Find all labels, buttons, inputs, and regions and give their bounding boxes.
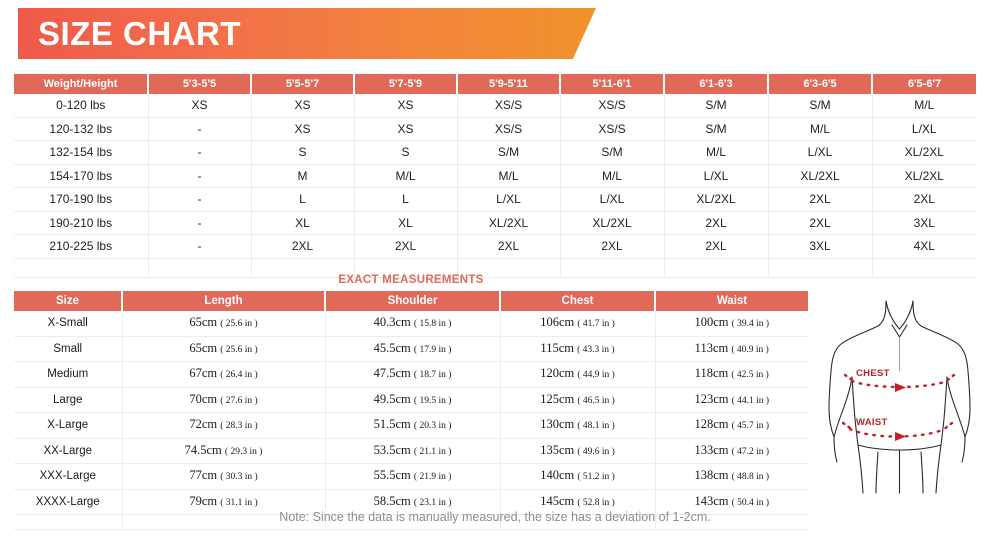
shoulder-cm: 55.5cm [374, 468, 411, 482]
table-row: 154-170 lbs - M M/L M/L M/L L/XL XL/2XL … [14, 164, 976, 188]
size-cell: S/M [664, 94, 768, 117]
column-header: 5'3-5'5 [148, 74, 251, 94]
chest-cell: 135cm ( 49.6 in ) [500, 438, 655, 464]
chest-in: ( 49.6 in ) [577, 447, 614, 457]
column-header: 5'7-5'9 [354, 74, 457, 94]
size-cell: S/M [664, 117, 768, 141]
waist-cm: 128cm [694, 417, 728, 431]
waist-label: WAIST [856, 417, 888, 428]
size-cell: S/M [457, 141, 560, 165]
table-row: Medium 67cm ( 26.4 in ) 47.5cm ( 18.7 in… [14, 362, 808, 388]
size-cell: L/XL [560, 188, 664, 212]
size-name-cell: X-Large [14, 413, 122, 439]
column-header: Chest [500, 291, 655, 311]
shoulder-cm: 51.5cm [374, 417, 411, 431]
chest-cell: 120cm ( 44.9 in ) [500, 362, 655, 388]
size-cell: M/L [354, 164, 457, 188]
chest-cell: 115cm ( 43.3 in ) [500, 336, 655, 362]
length-cell: 65cm ( 25.6 in ) [122, 311, 325, 336]
chest-cell: 140cm ( 51.2 in ) [500, 464, 655, 490]
length-cm: 70cm [189, 392, 217, 406]
size-cell: S [251, 141, 354, 165]
size-cell: - [148, 141, 251, 165]
waist-in: ( 40.9 in ) [731, 345, 768, 355]
size-cell: XL/2XL [872, 164, 976, 188]
length-in: ( 25.6 in ) [220, 345, 257, 355]
size-cell: XS [251, 117, 354, 141]
shoulder-in: ( 18.7 in ) [414, 370, 451, 380]
size-cell: XS/S [560, 117, 664, 141]
waist-in: ( 45.7 in ) [732, 421, 769, 431]
length-in: ( 29.3 in ) [225, 447, 262, 457]
size-cell: XS/S [560, 94, 664, 117]
row-label-cell: 170-190 lbs [14, 188, 148, 212]
size-cell: XS/S [457, 117, 560, 141]
chest-cm: 115cm [540, 341, 574, 355]
length-cm: 67cm [189, 366, 217, 380]
length-cell: 72cm ( 28.3 in ) [122, 413, 325, 439]
chest-cm: 135cm [540, 443, 574, 457]
row-label-cell: 154-170 lbs [14, 164, 148, 188]
waist-in: ( 42.5 in ) [731, 370, 768, 380]
table-header-row: Size Length Shoulder Chest Waist [14, 291, 808, 311]
size-name-cell: Large [14, 387, 122, 413]
shoulder-in: ( 15.8 in ) [414, 319, 451, 329]
size-cell: - [148, 235, 251, 259]
size-cell: M/L [768, 117, 872, 141]
chest-in: ( 51.2 in ) [577, 472, 614, 482]
chest-in: ( 48.1 in ) [577, 421, 614, 431]
size-by-weight-height-table: Weight/Height 5'3-5'5 5'5-5'7 5'7-5'9 5'… [14, 74, 976, 278]
size-cell: L/XL [664, 164, 768, 188]
column-header: 6'5-6'7 [872, 74, 976, 94]
waist-cell: 128cm ( 45.7 in ) [655, 413, 808, 439]
chest-in: ( 41.7 in ) [577, 319, 614, 329]
length-in: ( 30.3 in ) [220, 472, 257, 482]
size-cell: XL/2XL [457, 211, 560, 235]
shoulder-cell: 40.3cm ( 15.8 in ) [325, 311, 500, 336]
shoulder-in: ( 20.3 in ) [414, 421, 451, 431]
size-cell: M/L [457, 164, 560, 188]
size-cell: XL/2XL [664, 188, 768, 212]
chest-cell: 125cm ( 46.5 in ) [500, 387, 655, 413]
waist-in: ( 47.2 in ) [732, 447, 769, 457]
shoulder-cell: 45.5cm ( 17.9 in ) [325, 336, 500, 362]
table-row: X-Small 65cm ( 25.6 in ) 40.3cm ( 15.8 i… [14, 311, 808, 336]
size-cell: XL/2XL [560, 211, 664, 235]
chest-cm: 145cm [540, 494, 574, 508]
shoulder-in: ( 17.9 in ) [414, 345, 451, 355]
waist-cell: 133cm ( 47.2 in ) [655, 438, 808, 464]
size-cell: M [251, 164, 354, 188]
table-row: 0-120 lbs XS XS XS XS/S XS/S S/M S/M M/L [14, 94, 976, 117]
size-cell: L [251, 188, 354, 212]
length-cell: 74.5cm ( 29.3 in ) [122, 438, 325, 464]
length-in: ( 27.6 in ) [220, 396, 257, 406]
table-row: 190-210 lbs - XL XL XL/2XL XL/2XL 2XL 2X… [14, 211, 976, 235]
length-cm: 65cm [189, 315, 217, 329]
column-header: 6'1-6'3 [664, 74, 768, 94]
chest-cm: 125cm [540, 392, 574, 406]
size-cell: XL [251, 211, 354, 235]
shoulder-cm: 47.5cm [374, 366, 411, 380]
size-cell: M/L [872, 94, 976, 117]
body-measurement-diagram: CHEST WAIST [812, 297, 988, 502]
waist-cm: 123cm [694, 392, 728, 406]
size-cell: L/XL [872, 117, 976, 141]
shoulder-cell: 55.5cm ( 21.9 in ) [325, 464, 500, 490]
shoulder-cm: 53.5cm [374, 443, 411, 457]
shoulder-cell: 51.5cm ( 20.3 in ) [325, 413, 500, 439]
waist-in: ( 50.4 in ) [732, 498, 769, 508]
size-cell: L/XL [457, 188, 560, 212]
waist-cm: 113cm [695, 341, 729, 355]
size-cell: 2XL [768, 188, 872, 212]
size-cell: - [148, 117, 251, 141]
waist-cell: 118cm ( 42.5 in ) [655, 362, 808, 388]
table-row: 170-190 lbs - L L L/XL L/XL XL/2XL 2XL 2… [14, 188, 976, 212]
column-header: 5'11-6'1 [560, 74, 664, 94]
waist-cell: 138cm ( 48.8 in ) [655, 464, 808, 490]
chest-in: ( 43.3 in ) [577, 345, 614, 355]
column-header: Shoulder [325, 291, 500, 311]
table-row: 132-154 lbs - S S S/M S/M M/L L/XL XL/2X… [14, 141, 976, 165]
shoulder-in: ( 21.9 in ) [414, 472, 451, 482]
chest-in: ( 44.9 in ) [577, 370, 614, 380]
row-label-cell: 190-210 lbs [14, 211, 148, 235]
chest-in: ( 52.8 in ) [577, 498, 614, 508]
size-cell: XS [354, 94, 457, 117]
exact-measurements-title: EXACT MEASUREMENTS [14, 274, 808, 286]
size-cell: XS [354, 117, 457, 141]
size-cell: 2XL [872, 188, 976, 212]
waist-cm: 143cm [694, 494, 728, 508]
size-cell: XL [354, 211, 457, 235]
size-cell: - [148, 211, 251, 235]
column-header: Waist [655, 291, 808, 311]
chest-label: CHEST [856, 368, 890, 379]
size-cell: S/M [768, 94, 872, 117]
size-cell: - [148, 164, 251, 188]
length-cm: 74.5cm [185, 443, 222, 457]
size-cell: S [354, 141, 457, 165]
chest-cell: 106cm ( 41.7 in ) [500, 311, 655, 336]
length-cell: 70cm ( 27.6 in ) [122, 387, 325, 413]
table-row: Small 65cm ( 25.6 in ) 45.5cm ( 17.9 in … [14, 336, 808, 362]
chest-cm: 140cm [540, 468, 574, 482]
waist-in: ( 48.8 in ) [732, 472, 769, 482]
length-cm: 72cm [189, 417, 217, 431]
size-cell: 2XL [354, 235, 457, 259]
length-in: ( 28.3 in ) [220, 421, 257, 431]
size-cell: S/M [560, 141, 664, 165]
table-row: Large 70cm ( 27.6 in ) 49.5cm ( 19.5 in … [14, 387, 808, 413]
column-header: Size [14, 291, 122, 311]
size-cell: 2XL [768, 211, 872, 235]
shoulder-in: ( 23.1 in ) [414, 498, 451, 508]
size-name-cell: Medium [14, 362, 122, 388]
size-cell: 3XL [872, 211, 976, 235]
size-cell: L/XL [768, 141, 872, 165]
size-cell: 2XL [664, 235, 768, 259]
column-header: 5'5-5'7 [251, 74, 354, 94]
column-header: Length [122, 291, 325, 311]
length-cm: 79cm [189, 494, 217, 508]
column-header: 5'9-5'11 [457, 74, 560, 94]
waist-cm: 138cm [694, 468, 728, 482]
size-cell: M/L [664, 141, 768, 165]
waist-cm: 118cm [695, 366, 729, 380]
size-cell: 2XL [664, 211, 768, 235]
size-name-cell: Small [14, 336, 122, 362]
chest-cm: 120cm [540, 366, 574, 380]
size-cell: 2XL [457, 235, 560, 259]
waist-in: ( 39.4 in ) [732, 319, 769, 329]
size-cell: M/L [560, 164, 664, 188]
shoulder-cm: 45.5cm [374, 341, 411, 355]
length-cell: 65cm ( 25.6 in ) [122, 336, 325, 362]
shoulder-cm: 49.5cm [374, 392, 411, 406]
measurement-note: Note: Since the data is manually measure… [0, 510, 990, 524]
column-header: 6'3-6'5 [768, 74, 872, 94]
length-in: ( 25.6 in ) [220, 319, 257, 329]
waist-in: ( 44.1 in ) [732, 396, 769, 406]
size-name-cell: XX-Large [14, 438, 122, 464]
length-cell: 67cm ( 26.4 in ) [122, 362, 325, 388]
size-cell: XL/2XL [872, 141, 976, 165]
waist-cm: 100cm [694, 315, 728, 329]
waist-cell: 123cm ( 44.1 in ) [655, 387, 808, 413]
row-label-cell: 0-120 lbs [14, 94, 148, 117]
page-title: SIZE CHART [38, 15, 241, 53]
shoulder-cell: 53.5cm ( 21.1 in ) [325, 438, 500, 464]
row-label-cell: 120-132 lbs [14, 117, 148, 141]
size-cell: XL/2XL [768, 164, 872, 188]
size-cell: - [148, 188, 251, 212]
chest-cm: 106cm [540, 315, 574, 329]
length-cm: 77cm [189, 468, 217, 482]
chest-cell: 130cm ( 48.1 in ) [500, 413, 655, 439]
waist-cell: 113cm ( 40.9 in ) [655, 336, 808, 362]
chest-in: ( 46.5 in ) [577, 396, 614, 406]
table-header-row: Weight/Height 5'3-5'5 5'5-5'7 5'7-5'9 5'… [14, 74, 976, 94]
length-in: ( 31.1 in ) [220, 498, 257, 508]
size-cell: 2XL [560, 235, 664, 259]
table-row: XX-Large 74.5cm ( 29.3 in ) 53.5cm ( 21.… [14, 438, 808, 464]
spacer-cell [872, 258, 976, 277]
size-cell: XS/S [457, 94, 560, 117]
table-row: XXX-Large 77cm ( 30.3 in ) 55.5cm ( 21.9… [14, 464, 808, 490]
size-name-cell: XXX-Large [14, 464, 122, 490]
size-chart-banner: SIZE CHART [18, 8, 596, 59]
size-cell: 3XL [768, 235, 872, 259]
table-row: 120-132 lbs - XS XS XS/S XS/S S/M M/L L/… [14, 117, 976, 141]
size-cell: XS [148, 94, 251, 117]
chest-cm: 130cm [540, 417, 574, 431]
table-row: 210-225 lbs - 2XL 2XL 2XL 2XL 2XL 3XL 4X… [14, 235, 976, 259]
shoulder-cm: 40.3cm [374, 315, 411, 329]
shoulder-cell: 49.5cm ( 19.5 in ) [325, 387, 500, 413]
length-cell: 77cm ( 30.3 in ) [122, 464, 325, 490]
size-cell: L [354, 188, 457, 212]
waist-cell: 100cm ( 39.4 in ) [655, 311, 808, 336]
torso-illustration: CHEST WAIST [812, 297, 988, 502]
waist-cm: 133cm [694, 443, 728, 457]
shoulder-cm: 58.5cm [374, 494, 411, 508]
column-header: Weight/Height [14, 74, 148, 94]
size-cell: 2XL [251, 235, 354, 259]
row-label-cell: 210-225 lbs [14, 235, 148, 259]
size-cell: XS [251, 94, 354, 117]
exact-measurements-table: Size Length Shoulder Chest Waist X-Small… [14, 291, 808, 530]
table-row: X-Large 72cm ( 28.3 in ) 51.5cm ( 20.3 i… [14, 413, 808, 439]
size-cell: 4XL [872, 235, 976, 259]
length-in: ( 26.4 in ) [220, 370, 257, 380]
shoulder-cell: 47.5cm ( 18.7 in ) [325, 362, 500, 388]
length-cm: 65cm [189, 341, 217, 355]
size-name-cell: X-Small [14, 311, 122, 336]
shoulder-in: ( 19.5 in ) [414, 396, 451, 406]
shoulder-in: ( 21.1 in ) [414, 447, 451, 457]
row-label-cell: 132-154 lbs [14, 141, 148, 165]
